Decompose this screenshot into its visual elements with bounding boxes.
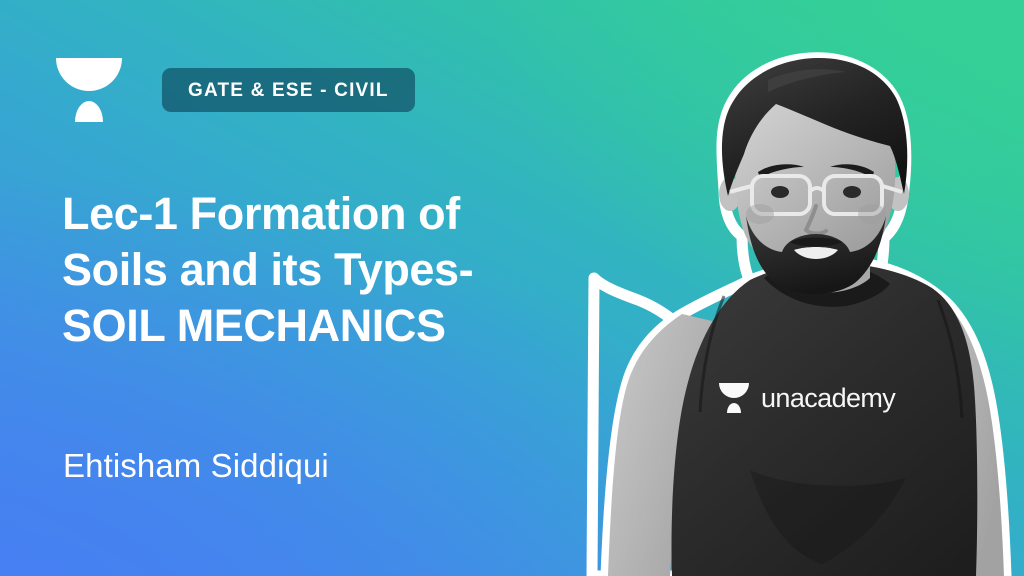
unacademy-logo-icon: [56, 58, 122, 122]
page-title-line-2: Soils and its Types-: [62, 242, 572, 298]
lecture-thumbnail: GATE & ESE - CIVIL Lec-1 Formation of So…: [0, 0, 1024, 576]
category-badge: GATE & ESE - CIVIL: [162, 68, 415, 112]
page-title-line-3: SOIL MECHANICS: [62, 298, 572, 354]
page-title: Lec-1 Formation of Soils and its Types- …: [62, 186, 572, 354]
author-name: Ehtisham Siddiqui: [63, 446, 329, 486]
page-title-line-1: Lec-1 Formation of: [62, 186, 572, 242]
logo-dome-shape: [75, 101, 103, 122]
category-badge-label: GATE & ESE - CIVIL: [188, 81, 389, 100]
logo-bowl-shape: [56, 58, 122, 91]
